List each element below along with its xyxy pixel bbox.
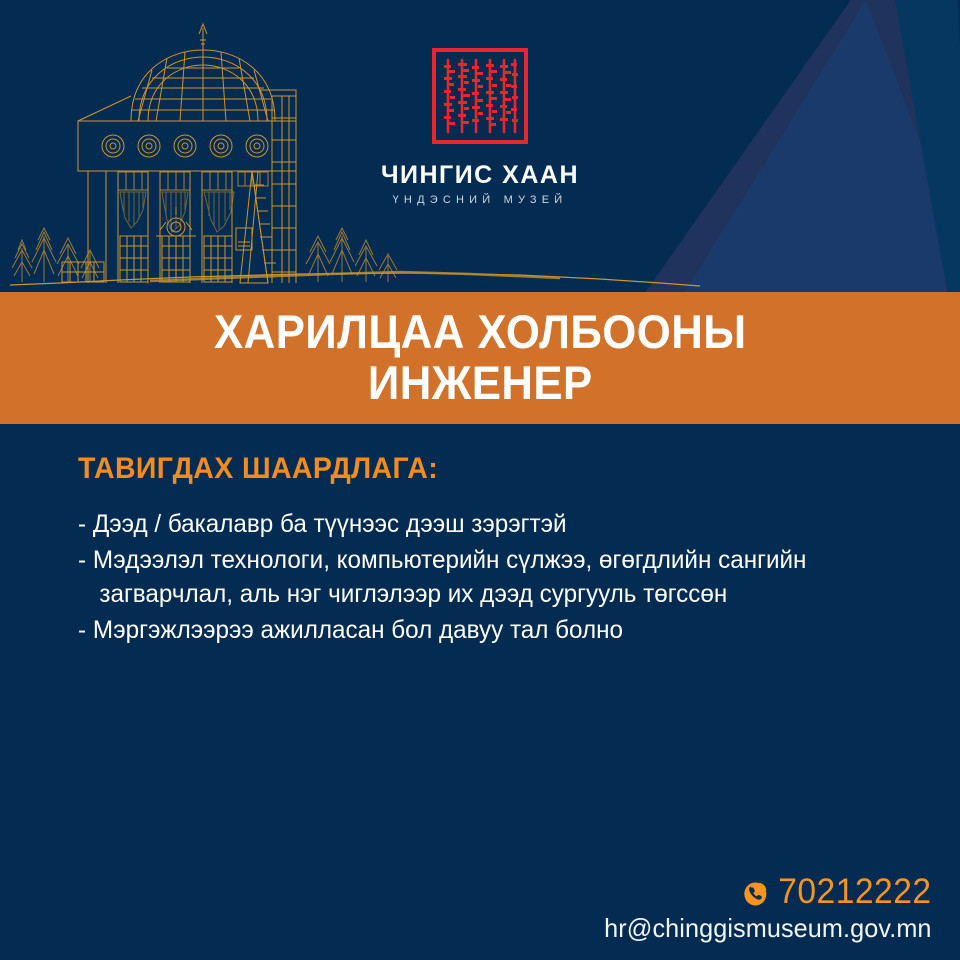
requirements-heading: ТАВИГДАХ ШААРДЛАГА: [78,452,842,485]
contact-phone-number: 70212222 [779,874,932,911]
list-item: - Мэдээлэл технологи, компьютерийн сүлжэ… [78,543,858,611]
requirements-section: ТАВИГДАХ ШААРДЛАГА: - Дээд / бакалавр ба… [0,452,960,649]
contact-footer: 70212222 hr@chinggismuseum.gov.mn [594,874,932,944]
job-title-banner: ХАРИЛЦАА ХОЛБООНЫ ИНЖЕНЕР [0,292,960,424]
job-title: ХАРИЛЦАА ХОЛБООНЫ ИНЖЕНЕР [177,307,784,409]
museum-building-illustration [0,0,960,292]
contact-email[interactable]: hr@chinggismuseum.gov.mn [605,914,932,944]
phone-ringing-icon [744,880,770,907]
job-posting-poster: ЧИНГИС ХААН ҮНДЭСНИЙ МУЗЕЙ ХАРИЛЦАА ХОЛБ… [0,0,960,960]
list-item: - Дээд / бакалавр ба түүнээс дээш зэрэгт… [78,507,858,541]
contact-phone-row[interactable]: 70212222 [608,874,932,911]
list-item: - Мэргэжлээрээ ажилласан бол давуу тал б… [78,613,858,647]
requirements-list: - Дээд / бакалавр ба түүнээс дээш зэрэгт… [78,507,882,647]
